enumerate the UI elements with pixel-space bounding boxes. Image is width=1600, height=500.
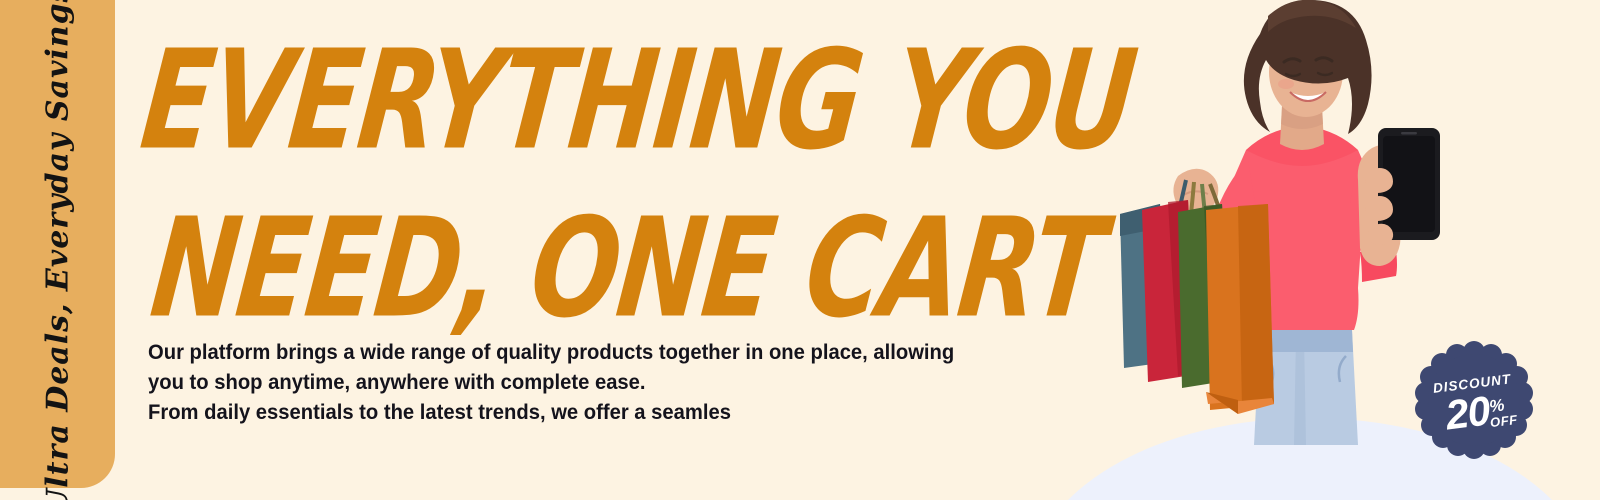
- side-strip: Ultra Deals, Everyday Savings.: [0, 0, 115, 488]
- shopping-bags: [1120, 180, 1274, 414]
- headline-line-1: EVERYTHING YOU: [136, 34, 1110, 169]
- body-line-2: you to shop anytime, anywhere with compl…: [148, 367, 994, 397]
- badge-amount: 20: [1442, 387, 1493, 438]
- model-head: [1244, 0, 1372, 134]
- discount-badge[interactable]: DISCOUNT 20 % OFF: [1418, 344, 1530, 456]
- promo-banner: Ultra Deals, Everyday Savings. EVERYTHIN…: [0, 0, 1600, 500]
- body-line-3: From daily essentials to the latest tren…: [148, 397, 994, 427]
- headline-line-2: NEED, ONE CART: [146, 202, 1110, 337]
- body-line-1: Our platform brings a wide range of qual…: [148, 337, 994, 367]
- model-photo: [1120, 0, 1460, 445]
- side-strip-tagline: Ultra Deals, Everyday Savings.: [40, 0, 75, 500]
- model-fingers: [1366, 168, 1394, 245]
- body-copy: Our platform brings a wide range of qual…: [148, 337, 1048, 427]
- headline: EVERYTHING YOU NEED, ONE CART: [150, 16, 1110, 304]
